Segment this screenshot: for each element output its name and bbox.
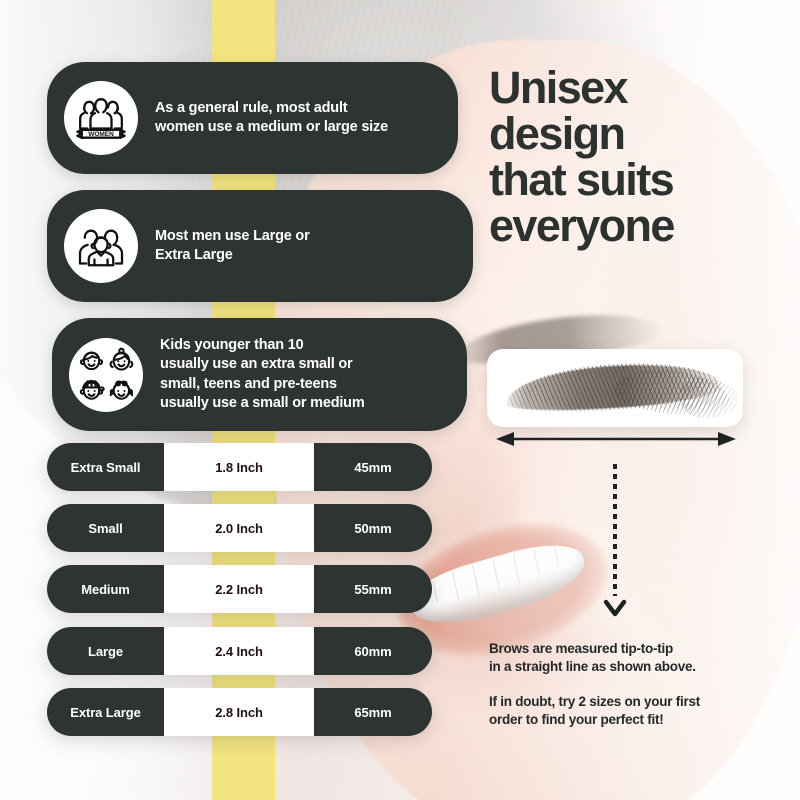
men-group-icon — [64, 209, 138, 283]
dashed-down-arrow — [600, 462, 630, 624]
table-row: Large 2.4 Inch 60mm — [47, 627, 432, 675]
size-name-cell: Extra Large — [47, 688, 164, 736]
table-row: Medium 2.2 Inch 55mm — [47, 565, 432, 613]
eyebrow-image — [487, 349, 743, 427]
table-row: Extra Large 2.8 Inch 65mm — [47, 688, 432, 736]
size-mm-cell: 60mm — [314, 627, 432, 675]
size-name-cell: Extra Small — [47, 443, 164, 491]
info-card-women: WOMEN As a general rule, most adult wome… — [47, 62, 458, 174]
info-card-text: As a general rule, most adult women use … — [155, 99, 388, 137]
table-row: Extra Small 1.8 Inch 45mm — [47, 443, 432, 491]
infographic-page: WOMEN As a general rule, most adult wome… — [0, 0, 800, 800]
size-mm-cell: 65mm — [314, 688, 432, 736]
size-name-cell: Small — [47, 504, 164, 552]
svg-text:WOMEN: WOMEN — [88, 131, 114, 138]
size-name-cell: Medium — [47, 565, 164, 613]
size-mm-cell: 50mm — [314, 504, 432, 552]
tip-to-tip-measure-arrow — [496, 430, 736, 448]
size-name-cell: Large — [47, 627, 164, 675]
size-inch-cell: 2.2 Inch — [164, 565, 314, 613]
measurement-notes: Brows are measured tip-to-tip in a strai… — [489, 640, 789, 729]
size-inch-cell: 1.8 Inch — [164, 443, 314, 491]
kids-faces-icon — [69, 338, 143, 412]
note-measure: Brows are measured tip-to-tip in a strai… — [489, 640, 789, 676]
women-group-icon: WOMEN — [64, 81, 138, 155]
eyebrow-sample-card — [487, 349, 743, 427]
size-inch-cell: 2.8 Inch — [164, 688, 314, 736]
size-inch-cell: 2.4 Inch — [164, 627, 314, 675]
info-card-text: Kids younger than 10 usually use an extr… — [160, 336, 365, 413]
size-inch-cell: 2.0 Inch — [164, 504, 314, 552]
note-sizing-tip: If in doubt, try 2 sizes on your first o… — [489, 693, 789, 729]
eyebrow-shape — [505, 366, 723, 408]
eyebrow-tail — [680, 378, 740, 418]
info-card-text: Most men use Large or Extra Large — [155, 227, 310, 265]
table-row: Small 2.0 Inch 50mm — [47, 504, 432, 552]
size-mm-cell: 45mm — [314, 443, 432, 491]
info-card-kids: Kids younger than 10 usually use an extr… — [52, 318, 467, 431]
page-title: Unisex design that suits everyone — [489, 65, 789, 249]
info-card-men: Most men use Large or Extra Large — [47, 190, 473, 302]
size-mm-cell: 55mm — [314, 565, 432, 613]
